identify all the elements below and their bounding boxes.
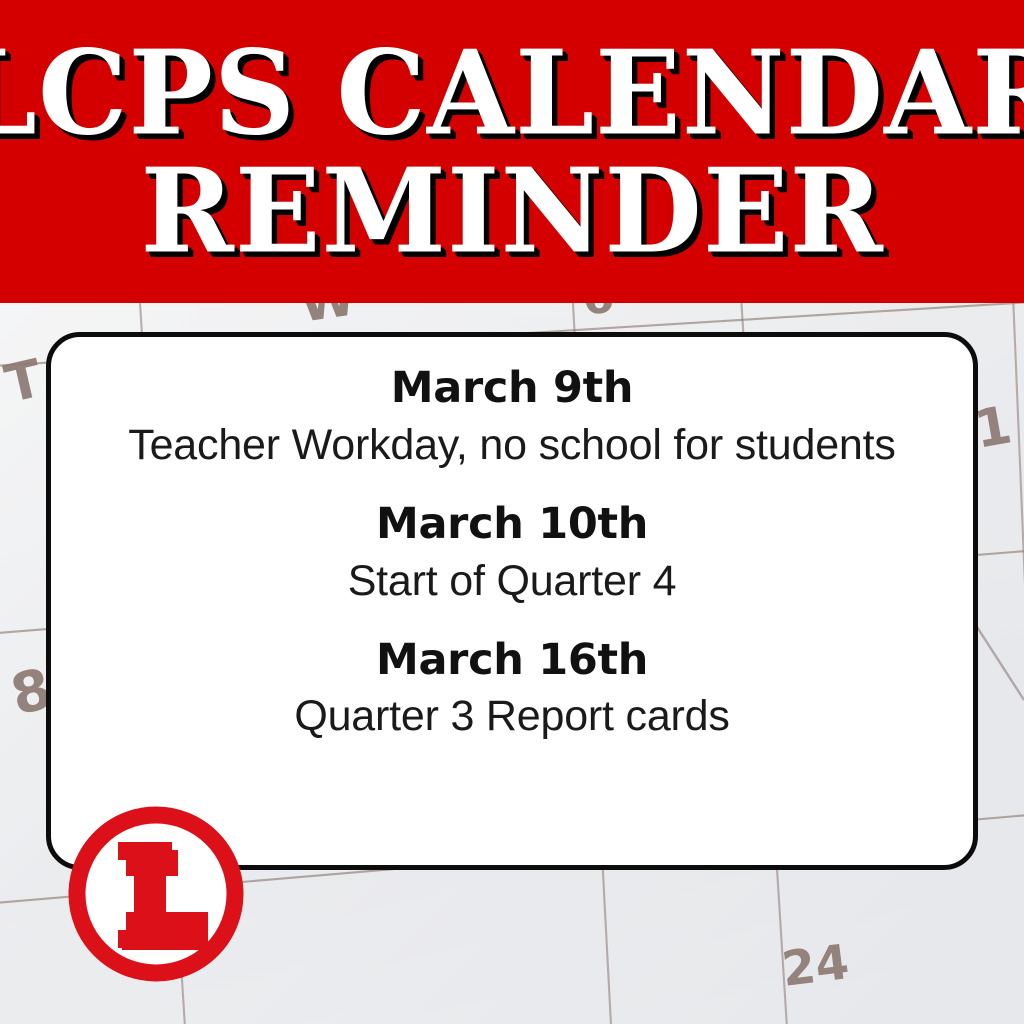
event-date: March 9th	[95, 363, 929, 414]
announcement-card: March 9th Teacher Workday, no school for…	[46, 332, 978, 870]
poster-canvas: T W 6 8 1 24 LCPS CALENDAR REMINDER Marc…	[0, 0, 1024, 1024]
event-description: Teacher Workday, no school for students	[95, 418, 929, 473]
banner-title-line-1: LCPS CALENDAR	[0, 37, 1024, 149]
title-banner: LCPS CALENDAR REMINDER	[0, 0, 1024, 303]
lcps-logo	[62, 800, 250, 988]
event-entry: March 10th Start of Quarter 4	[95, 499, 929, 609]
event-date: March 10th	[95, 499, 929, 550]
lcps-logo-icon	[62, 800, 250, 988]
event-entry: March 9th Teacher Workday, no school for…	[95, 363, 929, 473]
calendar-bg-number: 24	[779, 934, 852, 998]
event-entry: March 16th Quarter 3 Report cards	[95, 635, 929, 745]
event-description: Quarter 3 Report cards	[95, 689, 929, 744]
banner-title-line-2: REMINDER	[140, 155, 883, 267]
event-date: March 16th	[95, 635, 929, 686]
event-description: Start of Quarter 4	[95, 554, 929, 609]
